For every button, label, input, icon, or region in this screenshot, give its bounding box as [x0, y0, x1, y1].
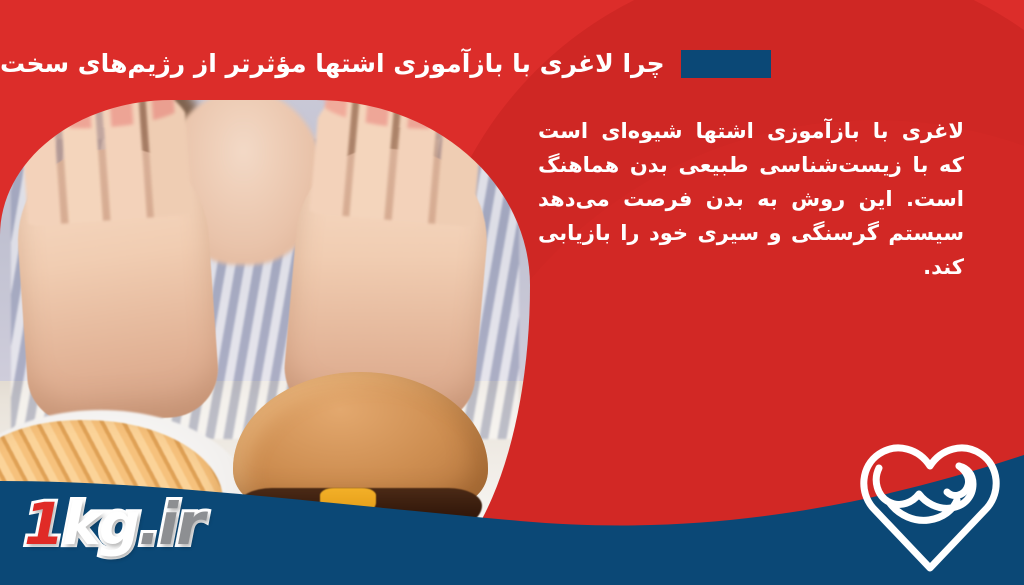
logo-part-tld: .ir [138, 495, 203, 553]
header-bar: چرا لاغری با بازآموزی اشتها مؤثرتر از رژ… [0, 36, 1024, 92]
body-paragraph: لاغری با بازآموزی اشتها شیوه‌ای است که ب… [538, 114, 964, 284]
heart-bicep-icon [855, 430, 1005, 580]
photo-hand-left [12, 142, 221, 426]
site-logo[interactable]: 1 kg .ir [24, 492, 203, 556]
title-accent-bar [681, 50, 771, 78]
logo-part-number: 1 [24, 495, 62, 553]
logo-part-kg: kg [62, 495, 138, 553]
banner-stage: چرا لاغری با بازآموزی اشتها مؤثرتر از رژ… [0, 0, 1024, 585]
page-title: چرا لاغری با بازآموزی اشتها مؤثرتر از رژ… [0, 49, 681, 79]
